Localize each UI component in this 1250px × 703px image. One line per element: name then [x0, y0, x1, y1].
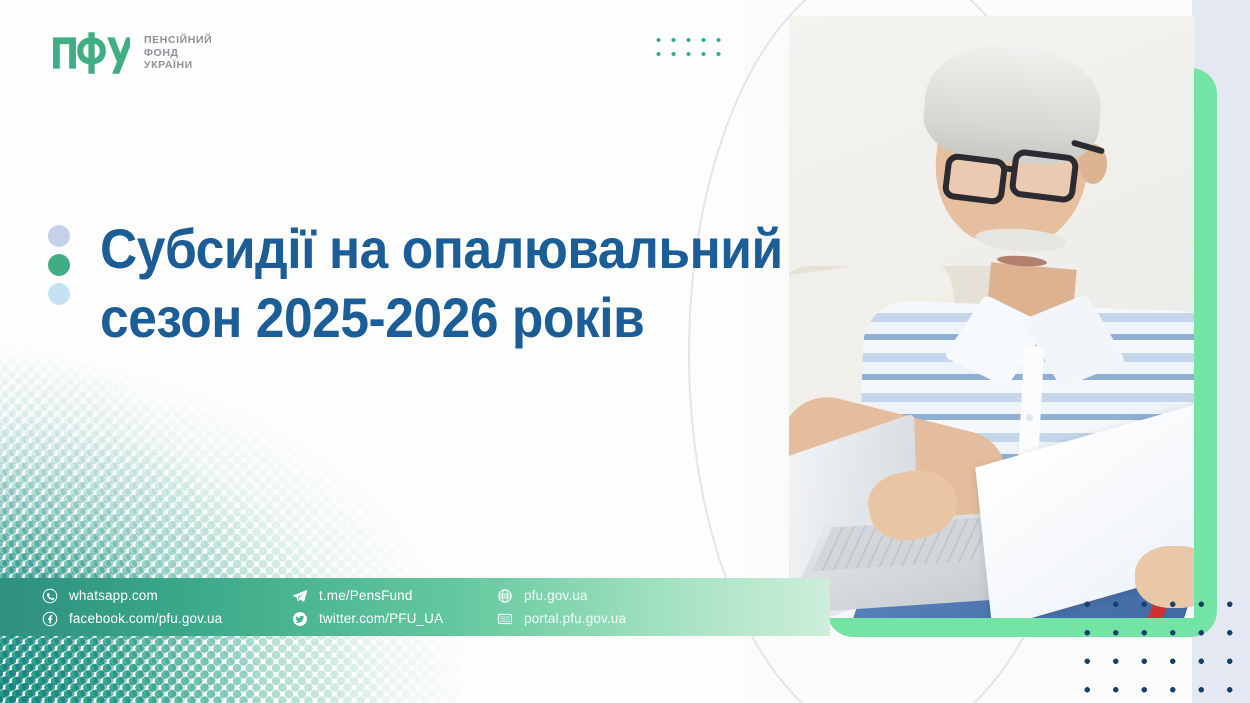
facebook-icon [42, 611, 58, 627]
footer-link-portal[interactable]: portal.pfu.gov.ua [497, 611, 717, 627]
dot-green-icon [48, 254, 70, 276]
footer-link-telegram[interactable]: t.me/PensFund [292, 588, 497, 604]
whatsapp-icon [42, 588, 58, 604]
footer-link-label: t.me/PensFund [319, 588, 413, 603]
footer-column-2: t.me/PensFund twitter.com/PFU_UA [292, 588, 497, 627]
twitter-icon [292, 611, 308, 627]
footer-link-website[interactable]: pfu.gov.ua [497, 588, 717, 604]
footer-column-3: pfu.gov.ua portal.pfu.gov.ua [497, 588, 717, 627]
footer-link-label: whatsapp.com [69, 588, 158, 603]
footer-link-facebook[interactable]: facebook.com/pfu.gov.ua [42, 611, 292, 627]
contacts-footer: whatsapp.com facebook.com/pfu.gov.ua t.m… [0, 578, 830, 636]
dot-grid-top [651, 33, 721, 65]
senior-man-laptop-photo [789, 16, 1194, 618]
photo-eyeglasses-left-lens [941, 152, 1008, 205]
portal-icon [497, 611, 513, 627]
pfu-logo-icon [52, 30, 130, 76]
poster-canvas: ПЕНСІЙНИЙ ФОНД УКРАЇНИ Субсидії на опалю… [0, 0, 1250, 703]
footer-link-twitter[interactable]: twitter.com/PFU_UA [292, 611, 497, 627]
dot-lavender-icon [48, 225, 70, 247]
logo-line-3: УКРАЇНИ [144, 59, 212, 71]
footer-link-label: twitter.com/PFU_UA [319, 611, 443, 626]
photo-shirt-button [1026, 414, 1033, 421]
halftone-dot-pattern-secondary [0, 300, 250, 703]
logo-line-2: ФОНД [144, 47, 212, 59]
pfu-logo-wordmark: ПЕНСІЙНИЙ ФОНД УКРАЇНИ [144, 34, 212, 71]
footer-link-label: portal.pfu.gov.ua [524, 611, 626, 626]
dot-blue-icon [48, 283, 70, 305]
page-title: Субсидії на опалювальний сезон 2025-2026… [100, 215, 783, 353]
photo-eyeglasses-right-lens [1008, 148, 1079, 204]
telegram-icon [292, 588, 308, 604]
pfu-logo[interactable]: ПЕНСІЙНИЙ ФОНД УКРАЇНИ [52, 30, 212, 76]
globe-icon [497, 588, 513, 604]
footer-link-label: facebook.com/pfu.gov.ua [69, 611, 222, 626]
footer-link-label: pfu.gov.ua [524, 588, 588, 603]
headline-block: Субсидії на опалювальний сезон 2025-2026… [48, 215, 842, 353]
logo-line-1: ПЕНСІЙНИЙ [144, 34, 212, 46]
footer-link-whatsapp[interactable]: whatsapp.com [42, 588, 292, 604]
decorative-dot-column [48, 215, 70, 353]
footer-column-1: whatsapp.com facebook.com/pfu.gov.ua [42, 588, 292, 627]
dot-grid-bottom-right [1073, 590, 1250, 700]
